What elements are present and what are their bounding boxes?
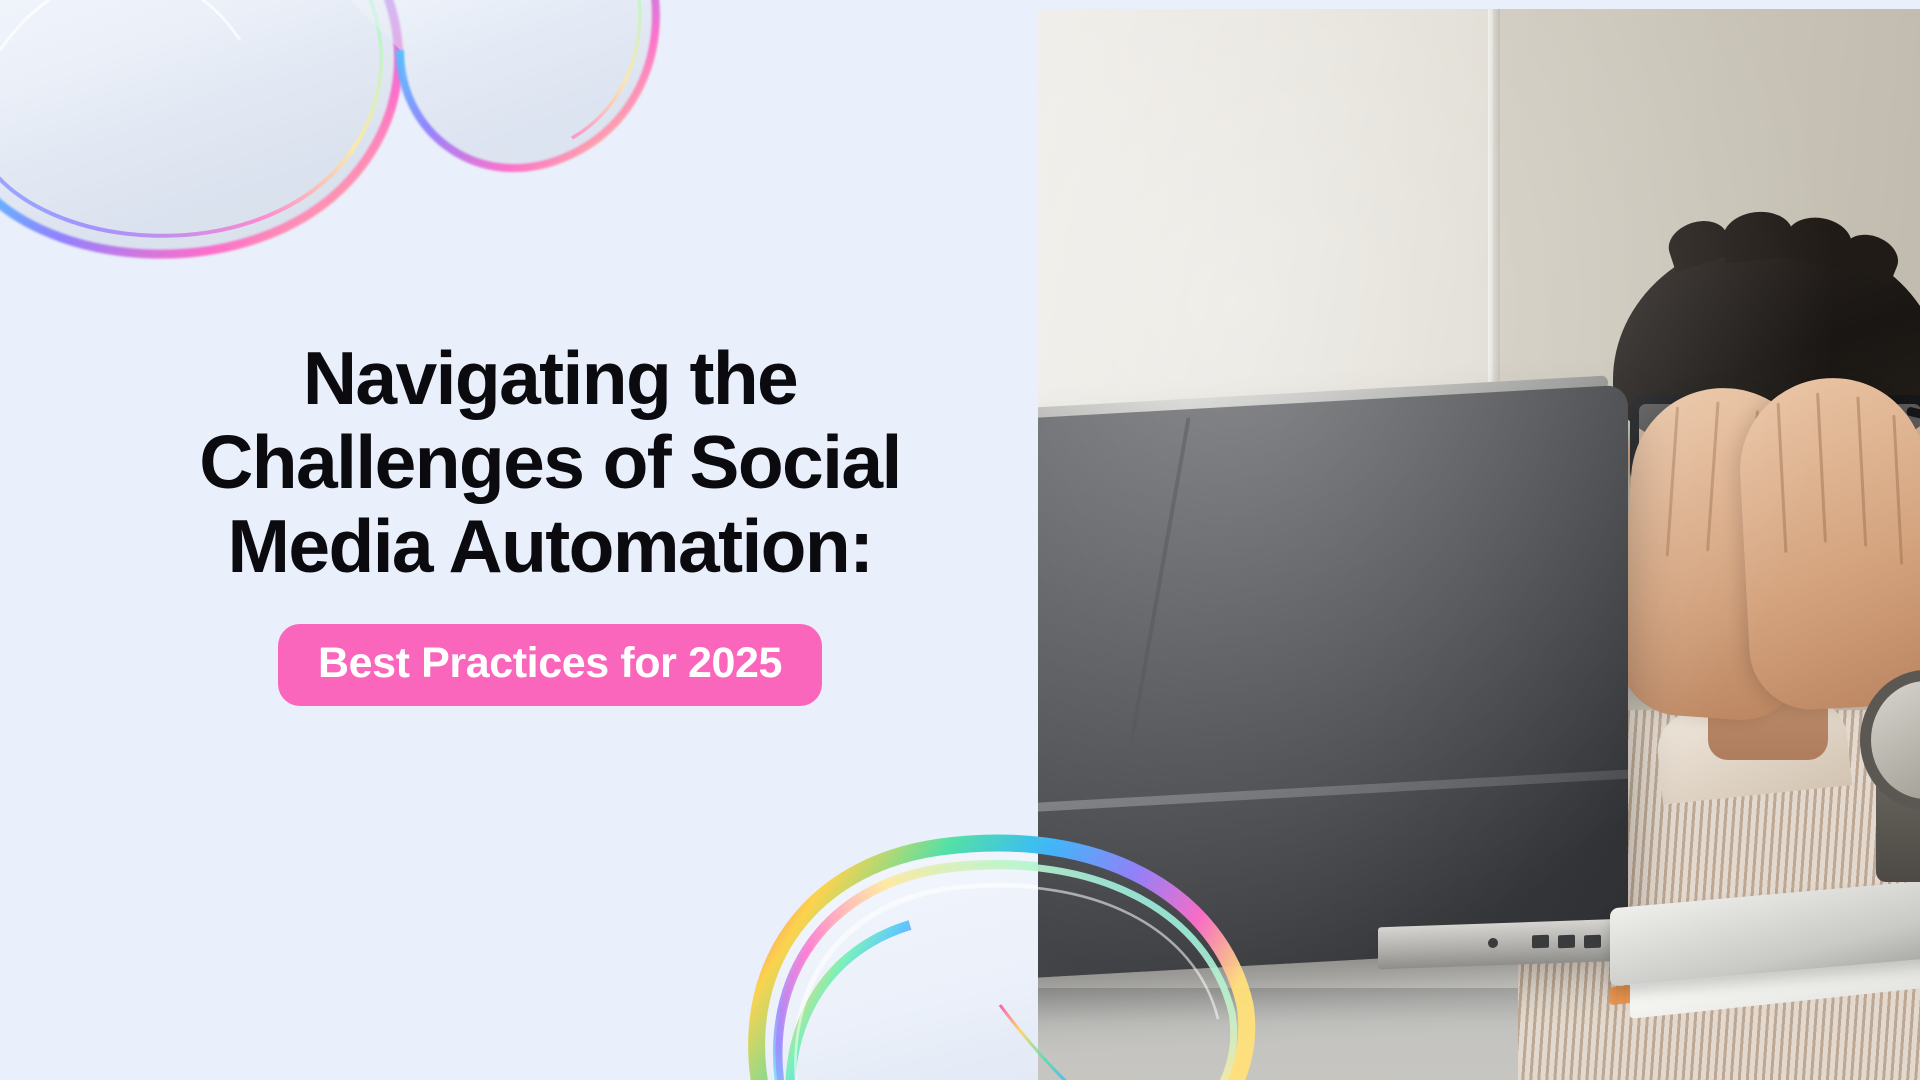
laptop-usb-port <box>1558 935 1575 949</box>
iridescent-ribbon-top-left-icon <box>0 0 700 310</box>
finger-crease <box>1777 403 1788 553</box>
finger-crease <box>1666 407 1679 557</box>
hero-photo <box>1038 0 1920 1080</box>
finger-crease <box>1706 401 1719 551</box>
finger-crease <box>1816 393 1827 543</box>
finger-crease <box>1892 415 1903 565</box>
page-title: Navigating the Challenges of Social Medi… <box>0 336 1038 588</box>
hand-right <box>1735 373 1920 712</box>
photo-top-strip <box>1038 0 1920 9</box>
left-content-panel: Navigating the Challenges of Social Medi… <box>0 0 1038 1080</box>
headline-line-2: Challenges of Social <box>0 420 1038 504</box>
laptop-usb-port <box>1584 935 1601 949</box>
subtitle-badge: Best Practices for 2025 <box>278 624 822 706</box>
finger-crease <box>1856 397 1867 547</box>
headline-line-3: Media Automation: <box>0 504 1038 588</box>
laptop-usb-port <box>1532 935 1549 949</box>
headline-line-1: Navigating the <box>0 336 1038 420</box>
laptop-lid <box>1038 385 1628 986</box>
blog-header-banner: Navigating the Challenges of Social Medi… <box>0 0 1920 1080</box>
hero-text-block: Navigating the Challenges of Social Medi… <box>0 336 1038 706</box>
iridescent-ribbon-bottom-icon <box>700 755 1038 1080</box>
badge-row: Best Practices for 2025 <box>0 624 1038 706</box>
